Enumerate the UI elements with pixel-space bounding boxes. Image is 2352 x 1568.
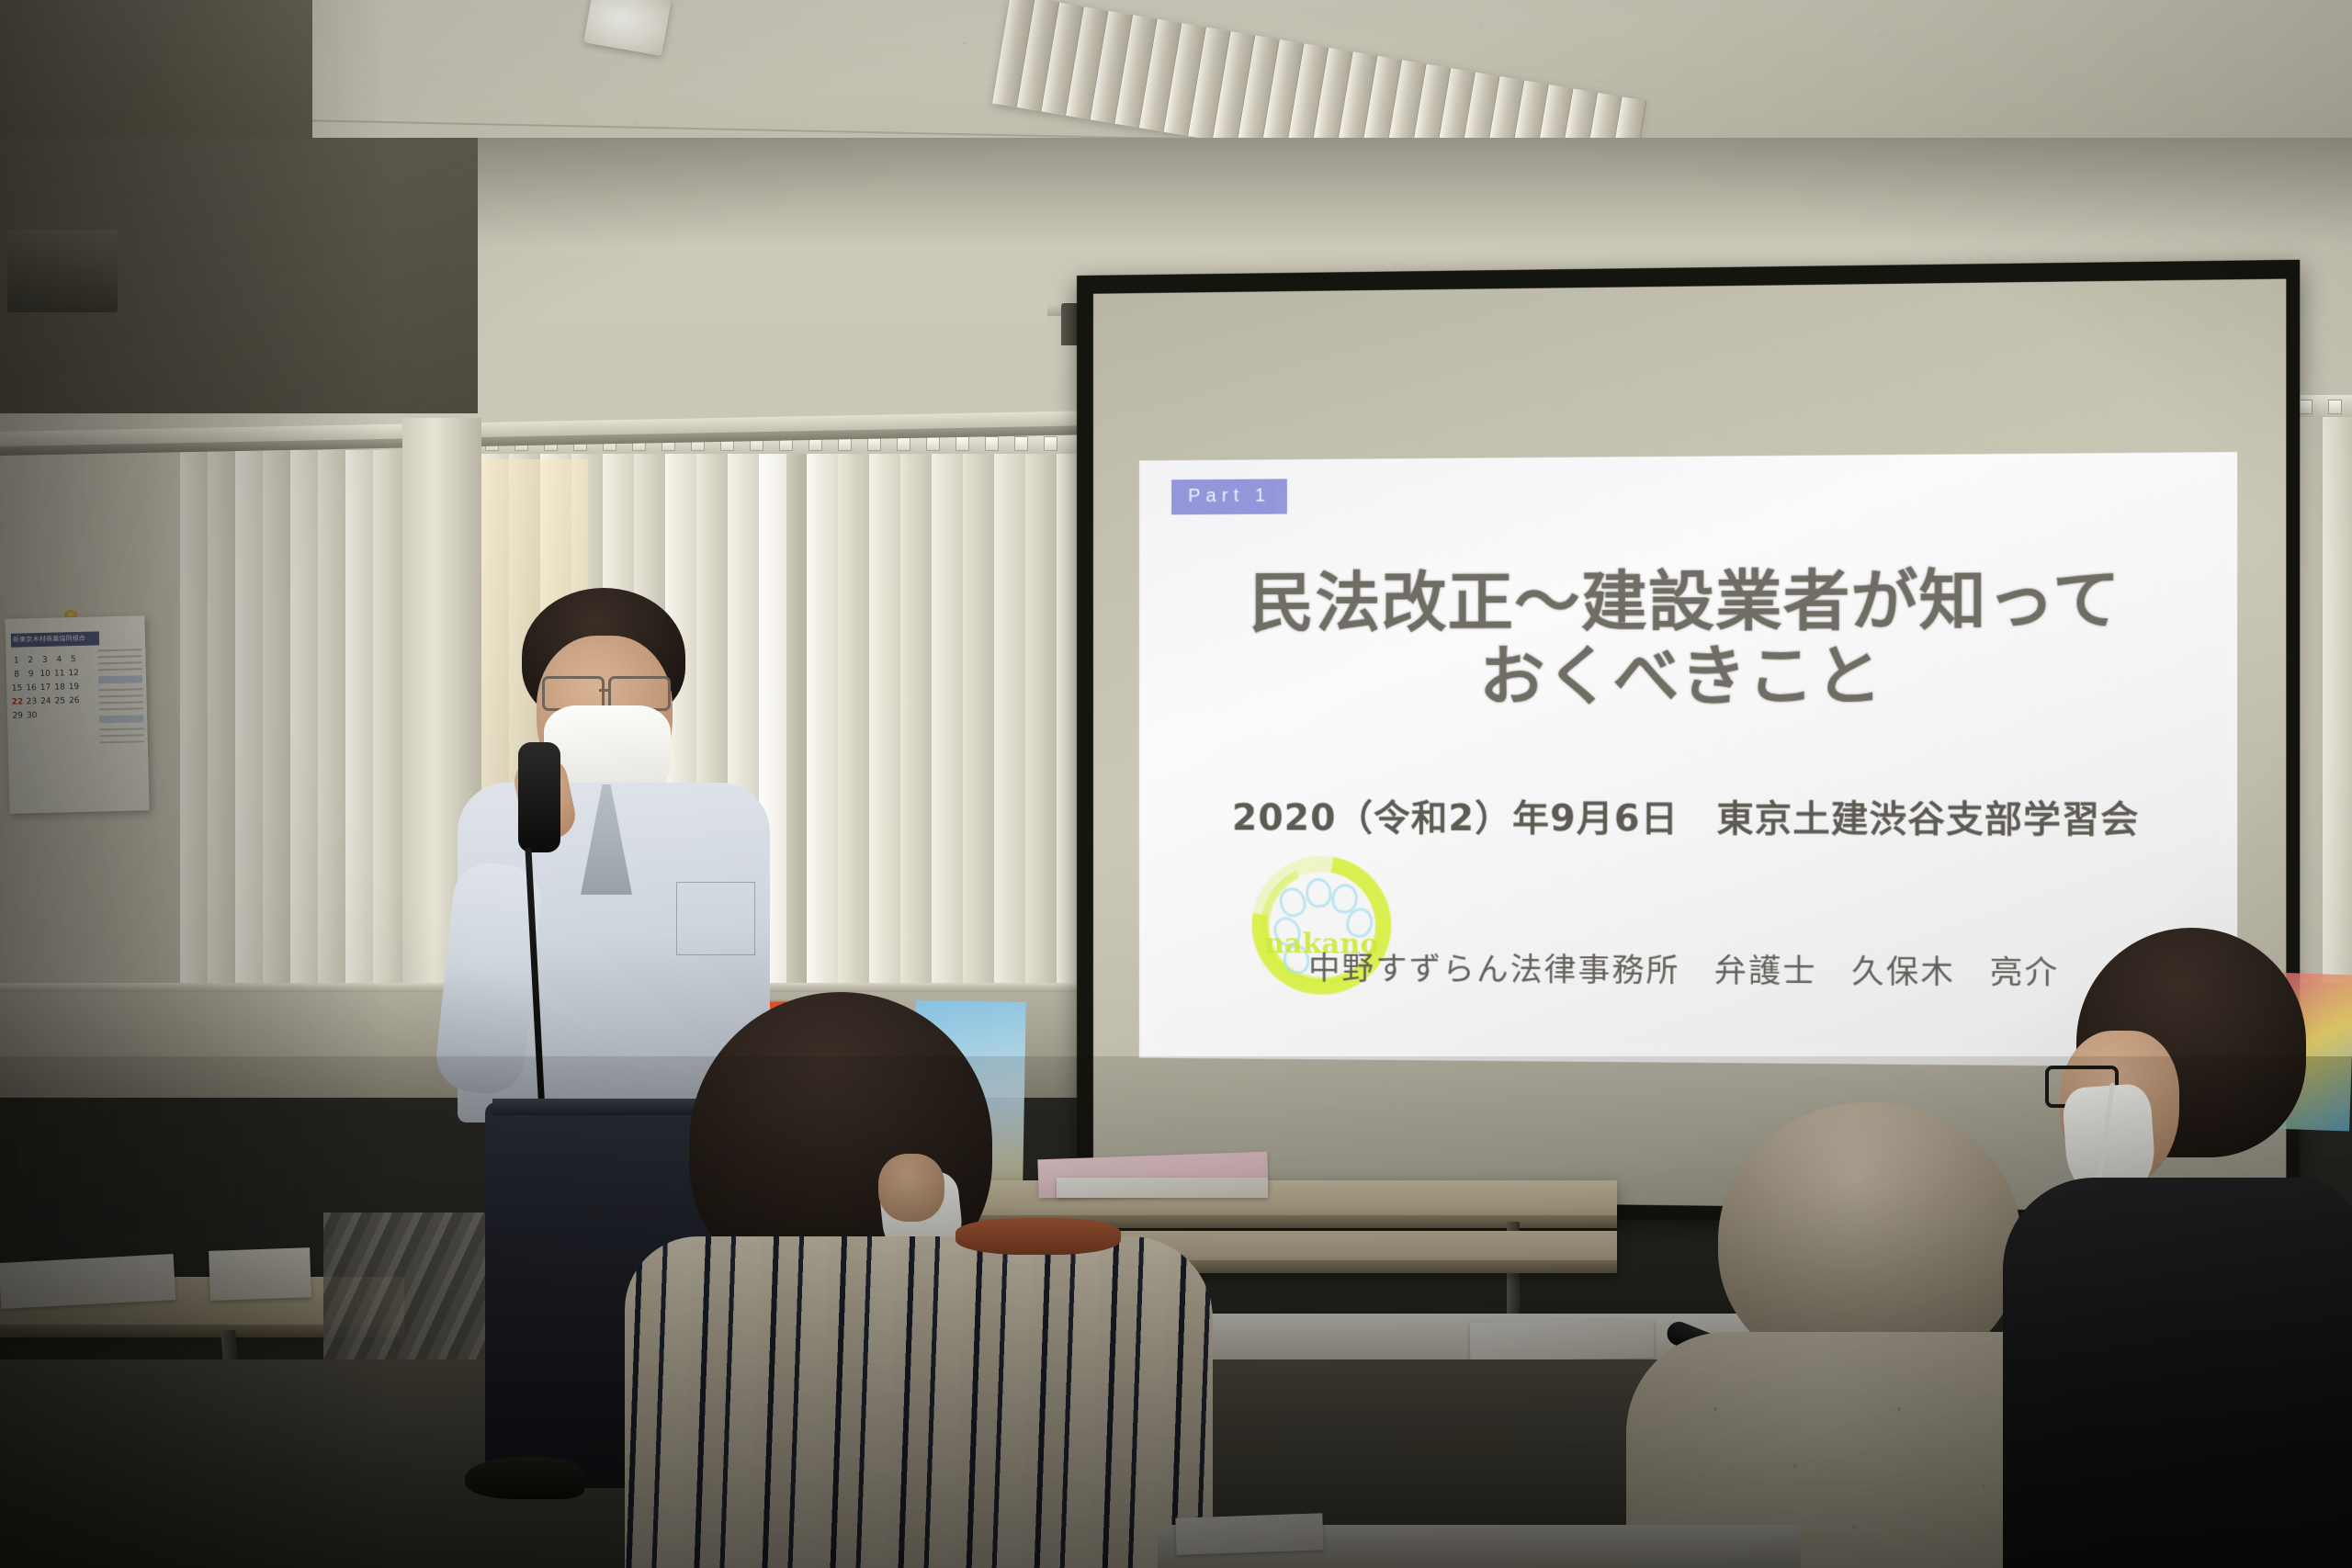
chair-backrest <box>955 1218 1121 1255</box>
presenter-microphone <box>518 742 560 852</box>
attendee-dark-jacket-body <box>2003 1178 2352 1568</box>
slide-part-badge: Part 1 <box>1171 479 1287 514</box>
glasses-bridge <box>599 689 610 692</box>
calendar-day: 24 <box>39 696 52 708</box>
calendar-day: 2 <box>24 655 38 667</box>
calendar-day: 11 <box>52 668 66 680</box>
attendee-striped <box>606 992 1231 1568</box>
calendar-day-highlighted: 22 <box>11 696 25 708</box>
calendar-day: 15 <box>10 682 24 694</box>
wall-mounted-box <box>7 230 118 312</box>
attendee-striped-shirt <box>625 1236 1213 1568</box>
window-left <box>180 428 406 988</box>
calendar-day: 8 <box>10 669 24 681</box>
calendar-day: 23 <box>25 696 39 708</box>
calendar-day: 9 <box>24 669 38 681</box>
slide-date-line: 2020（令和2）年9月6日 東京土建渋谷支部学習会 <box>1139 789 2236 843</box>
calendar-day: 25 <box>53 695 67 707</box>
calendar-day: 5 <box>66 654 80 666</box>
slide-title-line-1: 民法改正～建設業者が知って <box>1139 563 2236 642</box>
left-table-papers <box>0 1254 175 1309</box>
calendar-header-text: 新東京木材商業協同組合 <box>13 632 86 648</box>
calendar-day: 18 <box>53 682 67 694</box>
calendar-day: 3 <box>38 655 51 667</box>
calendar-day: 30 <box>25 710 39 722</box>
calendar-day: 16 <box>25 682 39 694</box>
shirt-pocket <box>676 882 755 955</box>
attendee-cheek <box>878 1154 944 1222</box>
photo-scene: 新東京木材商業協同組合 12345 89101112 1516171819 22… <box>0 0 2352 1568</box>
calendar-day: 17 <box>39 682 52 694</box>
tent-card <box>209 1247 311 1301</box>
calendar-day-grid: 12345 89101112 1516171819 2223242526 293… <box>9 654 96 723</box>
calendar-day: 26 <box>67 695 81 707</box>
presenter-shoe <box>465 1457 584 1499</box>
slide-title: 民法改正～建設業者が知って おくべきこと <box>1139 563 2236 716</box>
bottom-handout <box>1175 1513 1323 1555</box>
calendar-day: 19 <box>67 682 81 694</box>
slide-title-line-2: おくべきこと <box>1139 638 2236 715</box>
calendar-notes-column <box>97 649 144 748</box>
calendar-day: 29 <box>11 710 25 722</box>
calendar-day: 4 <box>52 654 66 666</box>
vertical-blind-slats <box>180 450 406 988</box>
calendar-day: 1 <box>9 655 23 667</box>
wall-calendar: 新東京木材商業協同組合 12345 89101112 1516171819 22… <box>5 615 149 814</box>
attendee-dark-jacket <box>1994 928 2352 1568</box>
calendar-day: 12 <box>67 668 81 680</box>
calendar-day: 10 <box>39 669 52 681</box>
